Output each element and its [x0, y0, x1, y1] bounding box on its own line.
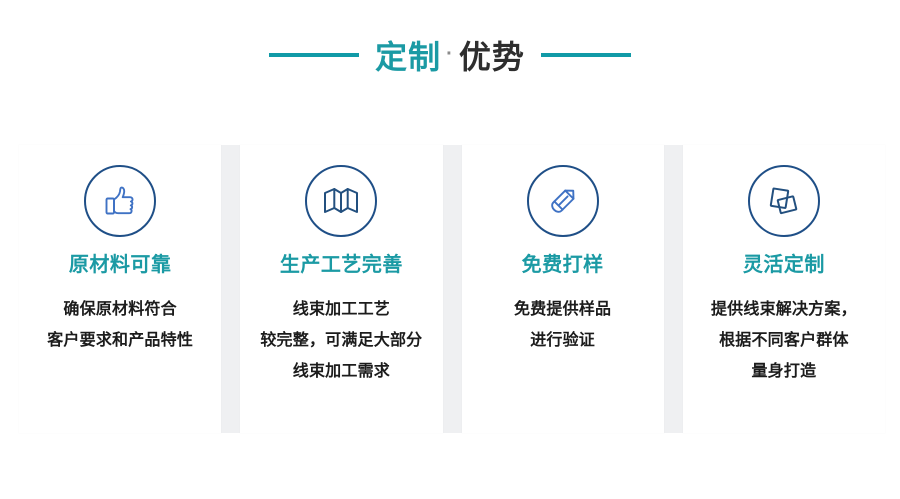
card-body-line: 提供线束解决方案，	[711, 294, 857, 325]
icon-circle	[305, 165, 377, 237]
icon-circle	[84, 165, 156, 237]
page-title: 定制 · 优势	[375, 41, 525, 73]
page-title-main: 优势	[459, 41, 525, 73]
feature-card[interactable]: 灵活定制 提供线束解决方案， 根据不同客户群体 量身打造	[683, 145, 885, 433]
feature-card[interactable]: 原材料可靠 确保原材料符合 客户要求和产品特性	[19, 145, 221, 433]
pencil-icon	[544, 182, 582, 220]
page-title-accent: 定制	[375, 41, 441, 73]
card-body: 确保原材料符合 客户要求和产品特性	[41, 294, 199, 356]
thumbs-up-icon	[101, 182, 139, 220]
stacked-cards-icon	[765, 182, 803, 220]
card-heading: 免费打样	[522, 255, 604, 275]
card-body: 免费提供样品 进行验证	[508, 294, 617, 356]
icon-circle	[527, 165, 599, 237]
title-rule-left	[269, 53, 359, 57]
card-body: 提供线束解决方案， 根据不同客户群体 量身打造	[705, 294, 863, 387]
icon-circle	[748, 165, 820, 237]
card-heading: 原材料可靠	[69, 255, 172, 275]
card-body-line: 较完整，可满足大部分	[260, 325, 422, 356]
folded-map-icon	[321, 184, 361, 218]
card-heading: 灵活定制	[743, 255, 825, 275]
card-body-line: 确保原材料符合	[47, 294, 193, 325]
title-rule-right	[541, 53, 631, 57]
card-body: 线束加工工艺 较完整，可满足大部分 线束加工需求	[254, 294, 428, 387]
page-title-separator: ·	[441, 44, 459, 64]
card-body-line: 客户要求和产品特性	[47, 325, 193, 356]
card-body-line: 根据不同客户群体	[711, 325, 857, 356]
feature-card[interactable]: 生产工艺完善 线束加工工艺 较完整，可满足大部分 线束加工需求	[240, 145, 442, 433]
card-body-line: 线束加工工艺	[260, 294, 422, 325]
card-heading: 生产工艺完善	[280, 255, 403, 275]
feature-card-list: 原材料可靠 确保原材料符合 客户要求和产品特性 生产工艺完善 线束加工工艺 较完…	[19, 145, 885, 433]
feature-card[interactable]: 免费打样 免费提供样品 进行验证	[462, 145, 664, 433]
section-header: 定制 · 优势	[0, 0, 900, 110]
card-body-line: 免费提供样品	[514, 294, 611, 325]
card-body-line: 量身打造	[711, 356, 857, 387]
card-body-line: 进行验证	[514, 325, 611, 356]
card-body-line: 线束加工需求	[260, 356, 422, 387]
